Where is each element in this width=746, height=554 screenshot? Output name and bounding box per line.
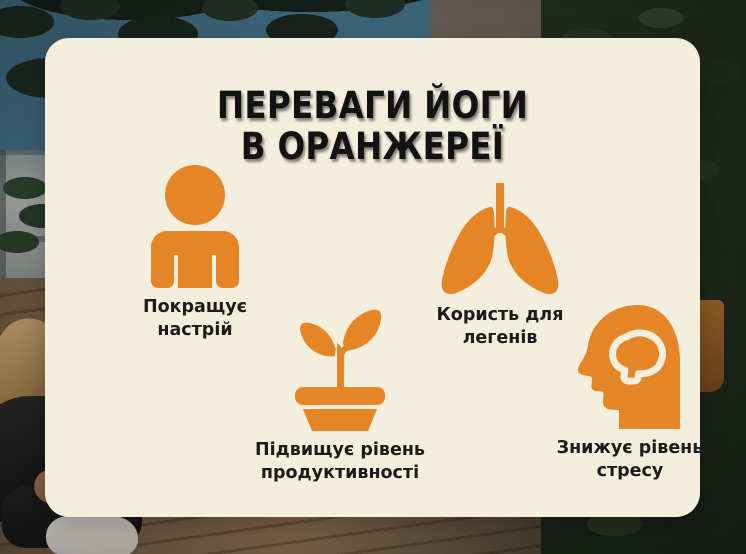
title-line-2: В ОРАНЖЕРЕЇ — [84, 126, 660, 167]
benefit-item-productivity: Підвищує рівень продуктивності — [225, 303, 455, 485]
lungs-icon — [385, 183, 615, 296]
benefit-label-productivity: Підвищує рівень продуктивності — [225, 439, 455, 485]
person-icon — [80, 163, 310, 288]
benefit-label-stress: Знижує рівень стресу — [515, 437, 745, 483]
benefit-item-stress: Знижує рівень стресу — [515, 303, 745, 483]
content-card: ПЕРЕВАГИ ЙОГИ В ОРАНЖЕРЕЇ Покращує настр… — [45, 38, 700, 517]
title-line-1: ПЕРЕВАГИ ЙОГИ — [217, 84, 528, 127]
poster: ПЕРЕВАГИ ЙОГИ В ОРАНЖЕРЕЇ Покращує настр… — [0, 0, 746, 554]
page-title: ПЕРЕВАГИ ЙОГИ В ОРАНЖЕРЕЇ — [84, 85, 660, 168]
potted-plant-icon — [225, 303, 455, 431]
head-brain-icon — [515, 303, 745, 429]
